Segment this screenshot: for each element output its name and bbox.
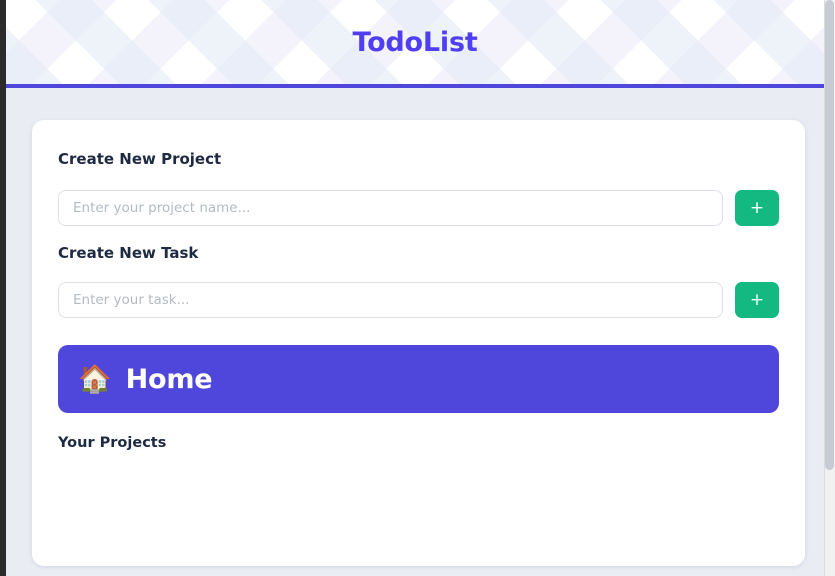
home-project-banner[interactable]: 🏠 Home — [58, 345, 779, 413]
create-task-label: Create New Task — [58, 244, 779, 262]
page-title: TodoList — [352, 27, 477, 58]
create-project-label: Create New Project — [58, 150, 779, 168]
create-task-row: + — [58, 282, 779, 318]
vertical-scrollbar[interactable] — [824, 0, 835, 576]
main-card: Create New Project + Create New Task + 🏠… — [32, 120, 805, 566]
page-scroll-area: TodoList Create New Project + Create New… — [6, 0, 824, 576]
your-projects-label: Your Projects — [58, 435, 779, 451]
window-left-edge — [0, 0, 6, 576]
home-project-label: Home — [126, 364, 213, 395]
create-project-row: + — [58, 190, 779, 226]
add-project-button[interactable]: + — [735, 190, 779, 226]
project-name-input[interactable] — [58, 190, 723, 226]
house-icon: 🏠 — [78, 366, 112, 393]
scrollbar-thumb[interactable] — [825, 0, 834, 470]
task-name-input[interactable] — [58, 282, 723, 318]
app-header: TodoList — [6, 0, 824, 88]
add-task-button[interactable]: + — [735, 282, 779, 318]
